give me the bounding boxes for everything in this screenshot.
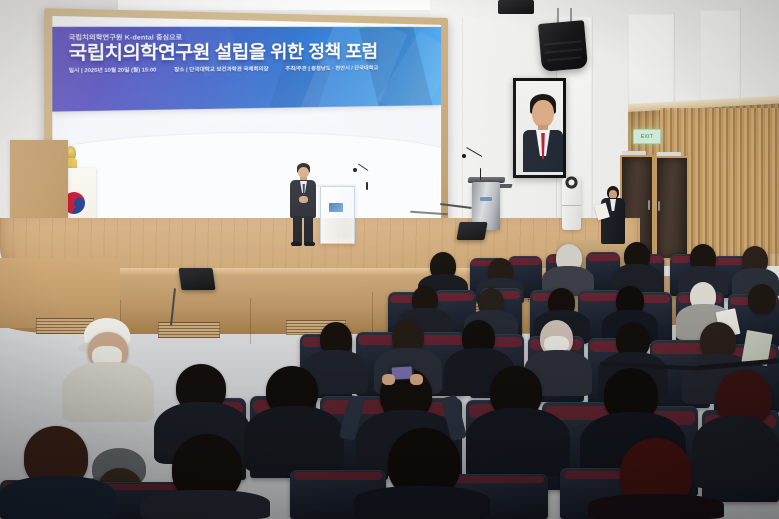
auditorium-photo: EXIT 국립치의학연구원 (0, 0, 779, 519)
banner-meta-date: 일시 | 2025년 10월 20일 (월) 15:00 (69, 66, 157, 74)
door-handle[interactable] (658, 201, 660, 211)
door-closer (657, 152, 681, 156)
air-purifier-top (564, 176, 579, 189)
wall-panel (628, 14, 674, 114)
banner-title: 국립치의학연구원 설립을 위한 정책 포럼 (69, 42, 432, 64)
attendee-shoulders (140, 490, 270, 519)
projection-screen-frame: 국립치의학연구원 K-dental 중심으로 국립치의학연구원 설립을 위한 정… (44, 8, 448, 250)
lectern-microphone (462, 152, 484, 180)
podium-logo (329, 203, 343, 212)
exit-sign: EXIT (633, 129, 661, 144)
door-closer (622, 151, 646, 155)
ceiling-speaker-secondary (498, 0, 534, 14)
attendee-shoulders (62, 362, 154, 422)
forum-banner: 국립치의학연구원 K-dental 중심으로 국립치의학연구원 설립을 위한 정… (52, 27, 441, 112)
banner-meta: 일시 | 2025년 10월 20일 (월) 15:00 장소 | 단국대학교 … (69, 64, 432, 74)
attendee-shoulders (244, 406, 344, 472)
portrait-face (532, 100, 554, 128)
air-purifier-seam (562, 205, 581, 206)
projection-screen: 국립치의학연구원 K-dental 중심으로 국립치의학연구원 설립을 위한 정… (52, 16, 441, 242)
door-handle[interactable] (648, 200, 650, 210)
attendee-shoulders (0, 476, 116, 519)
attendee-hand (382, 374, 395, 385)
attendee-shoulders (692, 416, 779, 488)
banner-meta-host: 주최/주관 | 충청남도 · 천안시 / 단국대학교 (285, 64, 378, 72)
banner-meta-venue: 장소 | 단국대학교 보건과학관 국제회의장 (174, 65, 268, 73)
presenter (288, 163, 318, 247)
portrait-display (513, 78, 566, 178)
lectern-logo (480, 197, 492, 201)
wall-seam (462, 18, 463, 218)
podium-microphone (352, 168, 370, 188)
audience-seating (0, 236, 779, 519)
attendee-shoulders (354, 486, 490, 519)
presenter-hands (299, 196, 308, 203)
attendee-shoulders (588, 494, 724, 519)
portrait-image (516, 81, 563, 175)
attendee-shoulders (466, 408, 570, 476)
ceiling-speaker (538, 20, 588, 72)
attendee-hand (410, 374, 423, 385)
attendee-head (748, 284, 776, 314)
